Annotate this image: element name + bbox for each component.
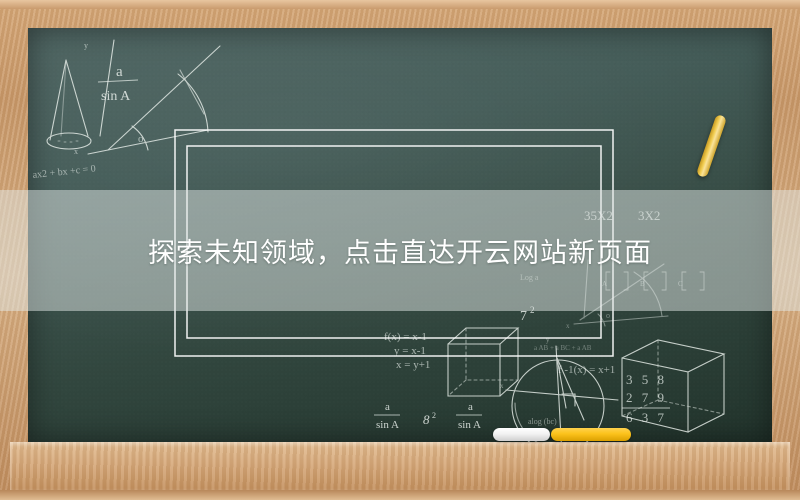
axis-label-x-circle: x — [500, 382, 504, 390]
cube-left-drawing — [448, 328, 518, 396]
power-eight: 8 2 — [423, 411, 436, 427]
white-chalk-icon — [493, 428, 550, 441]
svg-text:2 7 9: 2 7 9 — [626, 390, 667, 405]
fraction-a-sinA-mid: a sin A — [458, 401, 481, 431]
svg-text:f(x) = x-1: f(x) = x-1 — [384, 331, 427, 343]
svg-text:6 3 7: 6 3 7 — [626, 410, 667, 425]
axis-label-y-circle: y — [546, 336, 550, 344]
svg-text:a: a — [468, 401, 473, 413]
svg-text:a: a — [385, 401, 390, 413]
log-expression: alog (bc) — [528, 417, 557, 426]
svg-text:2: 2 — [432, 411, 436, 420]
cone-drawing — [47, 60, 91, 149]
yellow-chalk-ledge-icon — [551, 428, 631, 441]
svg-text:sin A: sin A — [376, 419, 399, 431]
page-title: 探索未知领域，点击直达开云网站新页面 — [148, 231, 652, 270]
svg-text:sin A: sin A — [458, 419, 481, 431]
svg-text:sin A: sin A — [101, 89, 131, 104]
svg-text:8: 8 — [423, 412, 430, 427]
subtraction-column: 3 5 8 2 7 9 6 3 7 — [626, 372, 667, 425]
svg-text:y = x-1: y = x-1 — [394, 345, 426, 357]
frame-bevel-top — [0, 0, 800, 9]
chalk-ledge — [10, 442, 790, 490]
svg-text:3 5 8: 3 5 8 — [626, 372, 667, 387]
svg-text:a: a — [116, 64, 123, 80]
svg-text:x = y+1: x = y+1 — [396, 359, 430, 371]
angle-label-topleft: o — [138, 133, 144, 145]
svg-text:7: 7 — [520, 309, 527, 324]
quadratic-equation: ax2 + bx +c = 0 — [32, 163, 96, 181]
frame-bevel-bottom — [0, 490, 800, 500]
inverse-function: f -1(x) = x+1 — [558, 364, 615, 376]
banner-stage: a sin A y x o ax2 + bx +c = 0 y x o f(x)… — [0, 0, 800, 500]
fraction-a-sinA-topleft: a sin A — [101, 64, 131, 104]
function-equations-block: f(x) = x-1 y = x-1 x = y+1 — [384, 331, 430, 371]
faint-vector-line: a AB + a BC + a AB — [534, 344, 592, 352]
axis-label-y-topleft: y — [84, 41, 88, 50]
fraction-a-sinA-bottomleft: a sin A — [376, 401, 399, 431]
axis-label-x-topleft: x — [74, 147, 78, 156]
headline-band: 探索未知领域，点击直达开云网站新页面 — [0, 190, 800, 311]
angle-label-upperright: o — [606, 311, 610, 320]
axis-label-x-upperright: x — [566, 322, 570, 330]
